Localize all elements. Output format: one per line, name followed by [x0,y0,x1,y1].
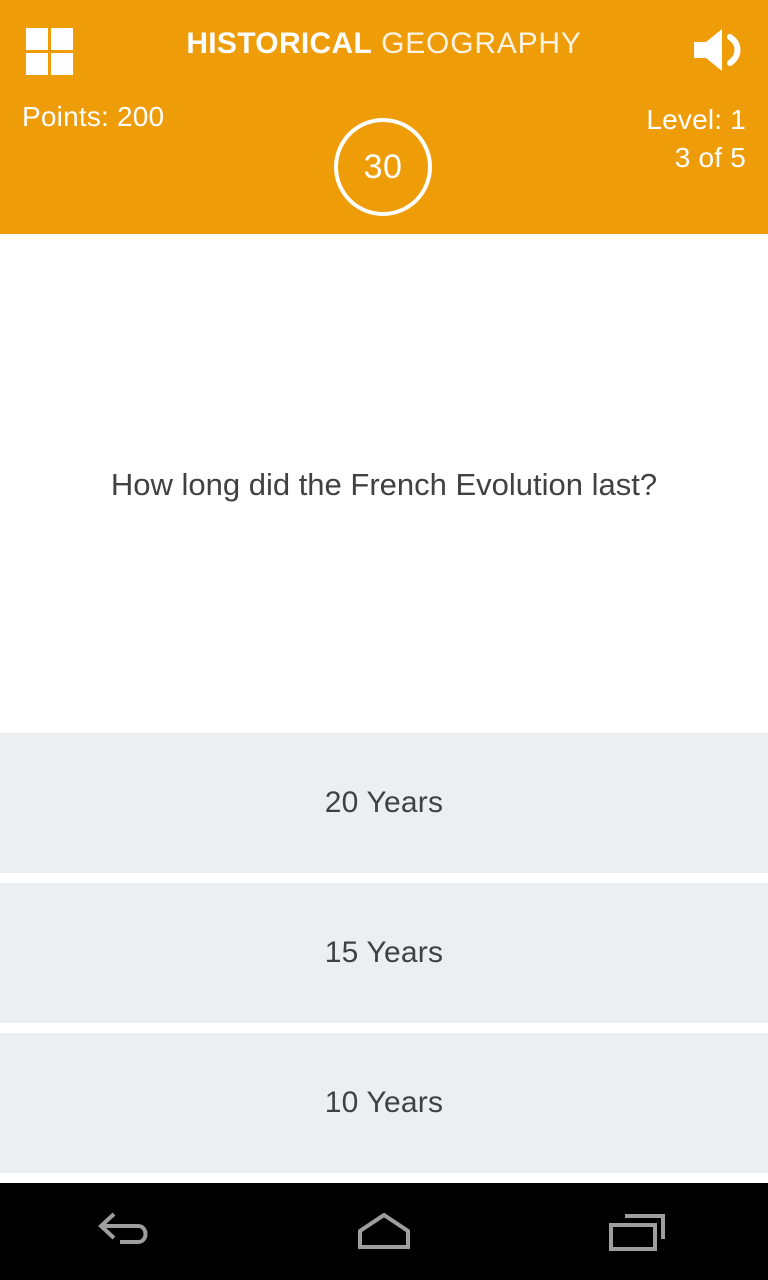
points-display: Points: 200 [22,101,164,133]
app-title-primary: HISTORICAL [186,27,372,60]
countdown-timer: 30 [334,118,432,216]
answer-option-1-label: 20 Years [325,786,443,820]
answer-option-1[interactable]: 20 Years [0,733,768,873]
level-progress-display: Level: 1 3 of 5 [646,101,746,177]
question-area: How long did the French Evolution last? [0,234,768,733]
recent-apps-icon[interactable] [565,1183,715,1280]
speaker-on-icon[interactable] [692,27,746,73]
app-header: HISTORICALGEOGRAPHY Points: 200 Level: 1… [0,0,768,234]
home-icon[interactable] [309,1183,459,1280]
back-arrow-icon[interactable] [53,1183,203,1280]
question-text: How long did the French Evolution last? [0,465,768,505]
answer-option-3[interactable]: 10 Years [0,1033,768,1173]
answer-option-2-label: 15 Years [325,936,443,970]
answer-option-2[interactable]: 15 Years [0,883,768,1023]
quiz-app-screen: HISTORICALGEOGRAPHY Points: 200 Level: 1… [0,0,768,1280]
timer-value: 30 [364,150,403,184]
answer-option-3-label: 10 Years [325,1086,443,1120]
android-navigation-bar [0,1183,768,1280]
answer-options-list: 20 Years 15 Years 10 Years [0,733,768,1183]
level-label: Level: 1 [646,101,746,139]
app-title: HISTORICALGEOGRAPHY [0,27,768,61]
app-title-secondary: GEOGRAPHY [381,27,582,60]
question-progress-label: 3 of 5 [646,139,746,177]
